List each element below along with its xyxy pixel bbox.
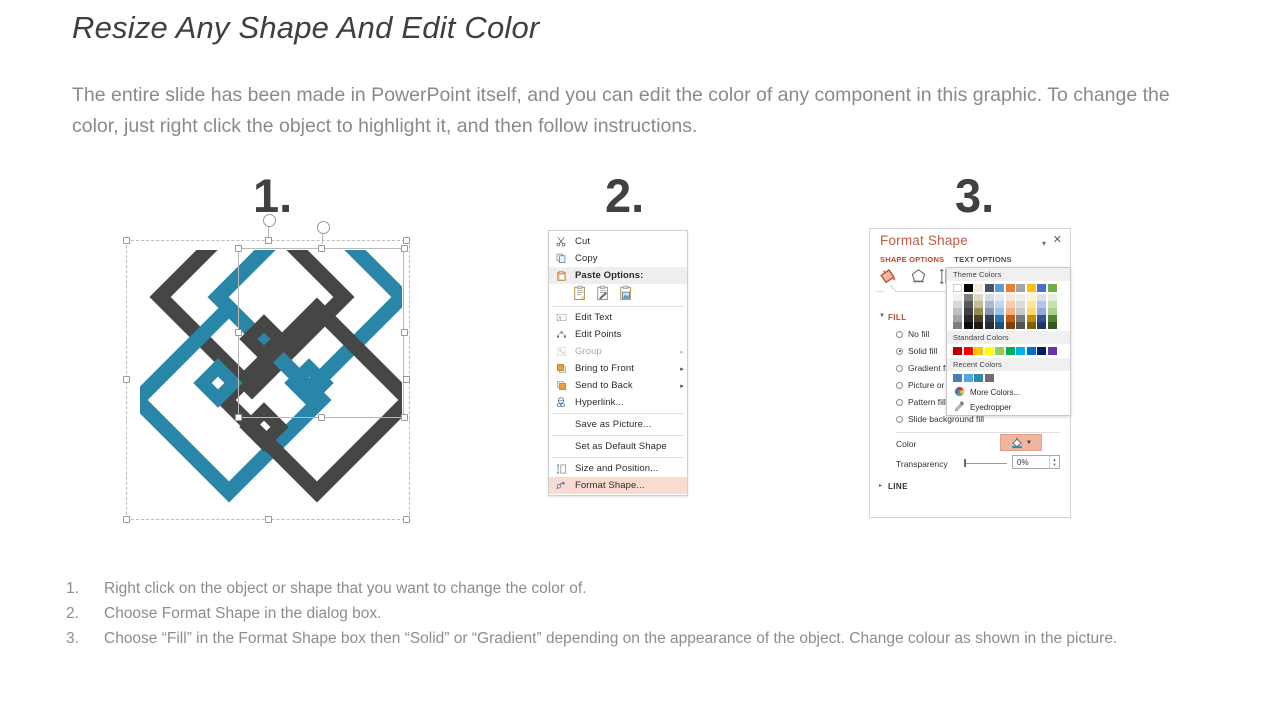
instruction-item: 3. Choose “Fill” in the Format Shape box… xyxy=(66,626,1276,651)
copy-icon xyxy=(551,253,571,264)
context-menu-item-send-to-back[interactable]: Send to Back ▸ xyxy=(549,377,687,394)
instruction-text: Choose “Fill” in the Format Shape box th… xyxy=(104,626,1276,651)
color-picker-flyout[interactable]: Theme Colors Standard Colors Recent Colo… xyxy=(946,267,1071,416)
theme-color-swatch[interactable] xyxy=(1027,294,1036,301)
eyedropper-icon xyxy=(954,401,965,414)
edit-text-icon: A xyxy=(551,312,571,323)
theme-color-swatch[interactable] xyxy=(1006,284,1015,292)
theme-colors-header: Theme Colors xyxy=(947,268,1070,281)
theme-color-swatch[interactable] xyxy=(995,322,1004,329)
theme-color-swatch[interactable] xyxy=(964,294,973,301)
theme-color-swatch[interactable] xyxy=(1027,284,1036,292)
theme-color-swatch[interactable] xyxy=(1006,315,1015,322)
context-menu-item-group[interactable]: Group ▸ xyxy=(549,343,687,360)
close-icon[interactable]: ✕ xyxy=(1053,233,1062,246)
theme-color-swatch[interactable] xyxy=(1037,308,1046,315)
color-picker-button[interactable]: ▼ xyxy=(1000,434,1042,451)
theme-color-swatch[interactable] xyxy=(985,315,994,322)
context-menu-item-bring-to-front[interactable]: Bring to Front ▸ xyxy=(549,360,687,377)
scissors-icon xyxy=(551,236,571,247)
format-shape-title: Format Shape xyxy=(880,233,968,248)
selection-handle-w[interactable] xyxy=(123,376,130,383)
chevron-down-icon[interactable]: ▼ xyxy=(1026,440,1032,446)
standard-color-swatch[interactable] xyxy=(1016,347,1025,355)
theme-color-column[interactable] xyxy=(1027,284,1036,329)
context-menu-label: Save as Picture... xyxy=(571,419,677,430)
radio-label: Pattern fill xyxy=(908,397,946,407)
theme-color-swatch[interactable] xyxy=(964,301,973,308)
transparency-label: Transparency xyxy=(896,459,948,469)
transparency-value: 0% xyxy=(1013,458,1049,467)
context-menu-label: Set as Default Shape xyxy=(571,441,677,452)
submenu-arrow: ▸ xyxy=(677,348,687,356)
format-shape-icon xyxy=(551,480,571,491)
tab-text-options[interactable]: TEXT OPTIONS xyxy=(954,255,1011,264)
theme-color-swatch[interactable] xyxy=(974,315,983,322)
theme-color-column[interactable] xyxy=(985,284,994,329)
theme-color-swatch[interactable] xyxy=(1037,315,1046,322)
transparency-input[interactable]: 0% ▲▼ xyxy=(1012,455,1060,469)
theme-color-swatch[interactable] xyxy=(1016,308,1025,315)
transparency-slider-knob[interactable] xyxy=(964,459,966,467)
theme-color-swatch[interactable] xyxy=(974,294,983,301)
standard-colors-header: Standard Colors xyxy=(947,331,1070,344)
context-menu-item-format-shape[interactable]: Format Shape... xyxy=(549,477,687,494)
theme-colors-grid[interactable] xyxy=(947,281,1070,331)
theme-color-swatch[interactable] xyxy=(953,301,962,308)
context-menu-label: Send to Back xyxy=(571,380,677,391)
step-number-2: 2. xyxy=(605,172,644,219)
send-back-icon xyxy=(551,380,571,391)
page-title: Resize Any Shape And Edit Color xyxy=(72,10,539,46)
radio-label: Gradient fill xyxy=(908,363,951,373)
theme-color-swatch[interactable] xyxy=(995,284,1004,292)
recent-colors-row[interactable] xyxy=(947,371,1070,385)
theme-color-swatch[interactable] xyxy=(1016,284,1025,292)
instruction-text: Right click on the object or shape that … xyxy=(104,576,1276,601)
clipboard-icon xyxy=(551,270,571,282)
context-menu-item-edit-points[interactable]: Edit Points xyxy=(549,326,687,343)
theme-color-swatch[interactable] xyxy=(974,322,983,329)
page-subtitle: The entire slide has been made in PowerP… xyxy=(72,80,1212,142)
theme-color-swatch[interactable] xyxy=(964,315,973,322)
context-menu-item-save-as-picture[interactable]: Save as Picture... xyxy=(549,416,687,433)
submenu-arrow: ▸ xyxy=(677,382,687,390)
radio-icon-selected[interactable] xyxy=(896,348,903,355)
context-menu-label: Cut xyxy=(571,236,677,247)
chevron-down-icon[interactable]: ▾ xyxy=(1042,239,1046,248)
theme-color-swatch[interactable] xyxy=(1037,322,1046,329)
theme-color-swatch[interactable] xyxy=(953,294,962,301)
group-icon xyxy=(551,346,571,357)
theme-color-swatch[interactable] xyxy=(1027,322,1036,329)
standard-color-swatch[interactable] xyxy=(1027,347,1036,355)
svg-text:A: A xyxy=(558,317,562,322)
theme-color-swatch[interactable] xyxy=(1037,284,1046,292)
context-menu-label: Hyperlink... xyxy=(571,397,677,408)
theme-color-swatch[interactable] xyxy=(995,301,1004,308)
instruction-item: 2. Choose Format Shape in the dialog box… xyxy=(66,601,1276,626)
hyperlink-icon xyxy=(551,397,571,408)
recent-color-swatch[interactable] xyxy=(953,374,962,382)
active-tab-notch xyxy=(884,286,896,292)
menu-separator xyxy=(552,306,684,307)
paste-options-row[interactable]: a xyxy=(549,284,687,304)
radio-pattern-fill[interactable]: Pattern fill xyxy=(896,397,946,407)
instruction-number: 1. xyxy=(66,576,104,601)
inner-handle-sw[interactable] xyxy=(235,414,242,421)
rotation-handle-outer[interactable] xyxy=(263,214,276,227)
inner-handle-nw[interactable] xyxy=(235,245,242,252)
radio-icon[interactable] xyxy=(896,382,903,389)
context-menu-item-size-and-position[interactable]: Size and Position... xyxy=(549,460,687,477)
inner-handle-w[interactable] xyxy=(235,329,242,336)
theme-color-swatch[interactable] xyxy=(953,322,962,329)
recent-colors-header: Recent Colors xyxy=(947,358,1070,371)
context-menu-label: Edit Points xyxy=(571,329,677,340)
theme-color-column[interactable] xyxy=(995,284,1004,329)
theme-color-swatch[interactable] xyxy=(1048,301,1057,308)
transparency-slider-track[interactable] xyxy=(965,463,1007,464)
inner-handle-ne[interactable] xyxy=(401,245,408,252)
theme-color-swatch[interactable] xyxy=(985,301,994,308)
theme-color-column[interactable] xyxy=(964,284,973,329)
theme-color-column[interactable] xyxy=(1037,284,1046,329)
recent-color-swatch[interactable] xyxy=(964,374,973,382)
inner-handle-se[interactable] xyxy=(401,414,408,421)
theme-color-swatch[interactable] xyxy=(1006,322,1015,329)
selection-handle-e[interactable] xyxy=(403,376,410,383)
eyedropper-label: Eyedropper xyxy=(970,403,1011,412)
theme-color-swatch[interactable] xyxy=(953,308,962,315)
radio-icon[interactable] xyxy=(896,416,903,423)
radio-no-fill[interactable]: No fill xyxy=(896,329,929,339)
context-menu-item-hyperlink[interactable]: Hyperlink... xyxy=(549,394,687,411)
bring-front-icon xyxy=(551,363,571,374)
shape-graphic-panel[interactable] xyxy=(126,232,414,520)
theme-color-swatch[interactable] xyxy=(985,284,994,292)
theme-color-swatch[interactable] xyxy=(964,322,973,329)
context-menu-label: Size and Position... xyxy=(571,463,677,474)
inner-handle-e[interactable] xyxy=(401,329,408,336)
recent-color-swatch[interactable] xyxy=(974,374,983,382)
standard-color-swatch[interactable] xyxy=(953,347,962,355)
eyedropper-option[interactable]: Eyedropper xyxy=(947,400,1070,415)
selection-handle-se[interactable] xyxy=(403,516,410,523)
theme-color-column[interactable] xyxy=(953,284,962,329)
theme-color-swatch[interactable] xyxy=(974,308,983,315)
transparency-stepper[interactable]: ▲▼ xyxy=(1049,456,1059,468)
theme-color-column[interactable] xyxy=(1048,284,1057,329)
context-menu-label: Bring to Front xyxy=(571,363,677,374)
theme-color-swatch[interactable] xyxy=(953,315,962,322)
theme-color-column[interactable] xyxy=(974,284,983,329)
context-menu-item-copy[interactable]: Copy xyxy=(549,250,687,267)
radio-label: Solid fill xyxy=(908,346,937,356)
context-menu-label: Group xyxy=(571,346,677,357)
selection-handle-sw[interactable] xyxy=(123,516,130,523)
menu-separator xyxy=(552,457,684,458)
theme-color-swatch[interactable] xyxy=(985,308,994,315)
theme-color-swatch[interactable] xyxy=(1016,294,1025,301)
radio-icon[interactable] xyxy=(896,331,903,338)
context-menu-label: Copy xyxy=(571,253,677,264)
theme-color-swatch[interactable] xyxy=(1027,308,1036,315)
standard-colors-row[interactable] xyxy=(947,344,1070,358)
paste-use-destination-theme-icon[interactable] xyxy=(596,285,610,304)
radio-gradient-fill[interactable]: Gradient fill xyxy=(896,363,951,373)
theme-color-swatch[interactable] xyxy=(1006,294,1015,301)
standard-color-swatch[interactable] xyxy=(1037,347,1046,355)
effects-pentagon-icon[interactable] xyxy=(909,267,928,291)
theme-color-swatch[interactable] xyxy=(1037,294,1046,301)
theme-color-column[interactable] xyxy=(1016,284,1025,329)
theme-color-swatch[interactable] xyxy=(1037,301,1046,308)
context-menu-item-set-as-default-shape[interactable]: Set as Default Shape xyxy=(549,438,687,455)
fill-expand-icon[interactable]: ▼ xyxy=(879,313,885,319)
radio-icon[interactable] xyxy=(896,365,903,372)
theme-color-swatch[interactable] xyxy=(1016,322,1025,329)
context-menu-item-paste-options[interactable]: Paste Options: xyxy=(549,267,687,284)
theme-color-swatch[interactable] xyxy=(1016,301,1025,308)
line-section-header[interactable]: LINE xyxy=(888,482,908,491)
menu-separator xyxy=(552,413,684,414)
size-position-icon xyxy=(551,463,571,475)
edit-points-icon xyxy=(551,329,571,340)
instruction-text: Choose Format Shape in the dialog box. xyxy=(104,601,1276,626)
theme-color-swatch[interactable] xyxy=(974,301,983,308)
theme-color-swatch[interactable] xyxy=(974,284,983,292)
line-expand-icon[interactable]: ▸ xyxy=(879,482,882,489)
context-menu-label: Format Shape... xyxy=(571,480,677,491)
selection-handle-n[interactable] xyxy=(265,237,272,244)
instructions-list: 1. Right click on the object or shape th… xyxy=(66,576,1276,651)
theme-color-swatch[interactable] xyxy=(1048,294,1057,301)
rotation-handle-inner[interactable] xyxy=(317,221,330,234)
theme-color-swatch[interactable] xyxy=(1048,308,1057,315)
standard-color-swatch[interactable] xyxy=(1006,347,1015,355)
color-label: Color xyxy=(896,439,916,449)
paste-picture-icon[interactable] xyxy=(619,285,633,304)
theme-color-swatch[interactable] xyxy=(1048,315,1057,322)
theme-color-column[interactable] xyxy=(1006,284,1015,329)
theme-color-swatch[interactable] xyxy=(1048,284,1057,292)
more-colors-label: More Colors... xyxy=(970,388,1020,397)
step-number-1: 1. xyxy=(253,172,292,219)
standard-color-swatch[interactable] xyxy=(964,347,973,355)
inner-selection-box[interactable] xyxy=(238,248,404,418)
theme-color-swatch[interactable] xyxy=(995,315,1004,322)
radio-solid-fill[interactable]: Solid fill xyxy=(896,346,937,356)
more-colors-option[interactable]: More Colors... xyxy=(947,385,1070,400)
theme-color-swatch[interactable] xyxy=(995,294,1004,301)
theme-color-swatch[interactable] xyxy=(953,284,962,292)
radio-icon[interactable] xyxy=(896,399,903,406)
theme-color-swatch[interactable] xyxy=(1027,315,1036,322)
context-menu-label: Edit Text xyxy=(571,312,677,323)
theme-color-swatch[interactable] xyxy=(1006,301,1015,308)
theme-color-swatch[interactable] xyxy=(985,294,994,301)
context-menu-label: Paste Options: xyxy=(571,270,677,281)
tab-shape-options[interactable]: SHAPE OPTIONS xyxy=(880,255,944,264)
standard-color-swatch[interactable] xyxy=(974,347,983,355)
theme-color-swatch[interactable] xyxy=(995,308,1004,315)
theme-color-swatch[interactable] xyxy=(964,284,973,292)
theme-color-swatch[interactable] xyxy=(964,308,973,315)
step-number-3: 3. xyxy=(955,172,994,219)
context-menu[interactable]: Cut Copy Paste Options: a A Edit Text xyxy=(548,230,688,496)
theme-color-swatch[interactable] xyxy=(1006,308,1015,315)
context-menu-item-edit-text[interactable]: A Edit Text xyxy=(549,309,687,326)
more-colors-icon xyxy=(954,386,965,399)
submenu-arrow: ▸ xyxy=(677,365,687,373)
instruction-item: 1. Right click on the object or shape th… xyxy=(66,576,1276,601)
menu-separator xyxy=(552,435,684,436)
radio-label: No fill xyxy=(908,329,929,339)
theme-color-swatch[interactable] xyxy=(1027,301,1036,308)
selection-handle-s[interactable] xyxy=(265,516,272,523)
recent-color-swatch[interactable] xyxy=(985,374,994,382)
paste-keep-source-formatting-icon[interactable]: a xyxy=(573,285,587,304)
fill-divider xyxy=(896,432,1060,433)
selection-handle-nw[interactable] xyxy=(123,237,130,244)
context-menu-item-cut[interactable]: Cut xyxy=(549,233,687,250)
standard-color-swatch[interactable] xyxy=(995,347,1004,355)
instruction-number: 2. xyxy=(66,601,104,626)
theme-color-swatch[interactable] xyxy=(1016,315,1025,322)
format-shape-tabs[interactable]: SHAPE OPTIONS TEXT OPTIONS xyxy=(880,255,1012,264)
standard-color-swatch[interactable] xyxy=(985,347,994,355)
theme-color-swatch[interactable] xyxy=(1048,322,1057,329)
fill-section-header[interactable]: FILL xyxy=(888,313,906,322)
inner-handle-n[interactable] xyxy=(318,245,325,252)
fill-color-icon xyxy=(1010,436,1024,449)
instruction-number: 3. xyxy=(66,626,104,651)
selection-handle-ne[interactable] xyxy=(403,237,410,244)
inner-handle-s[interactable] xyxy=(318,414,325,421)
theme-color-swatch[interactable] xyxy=(985,322,994,329)
standard-color-swatch[interactable] xyxy=(1048,347,1057,355)
